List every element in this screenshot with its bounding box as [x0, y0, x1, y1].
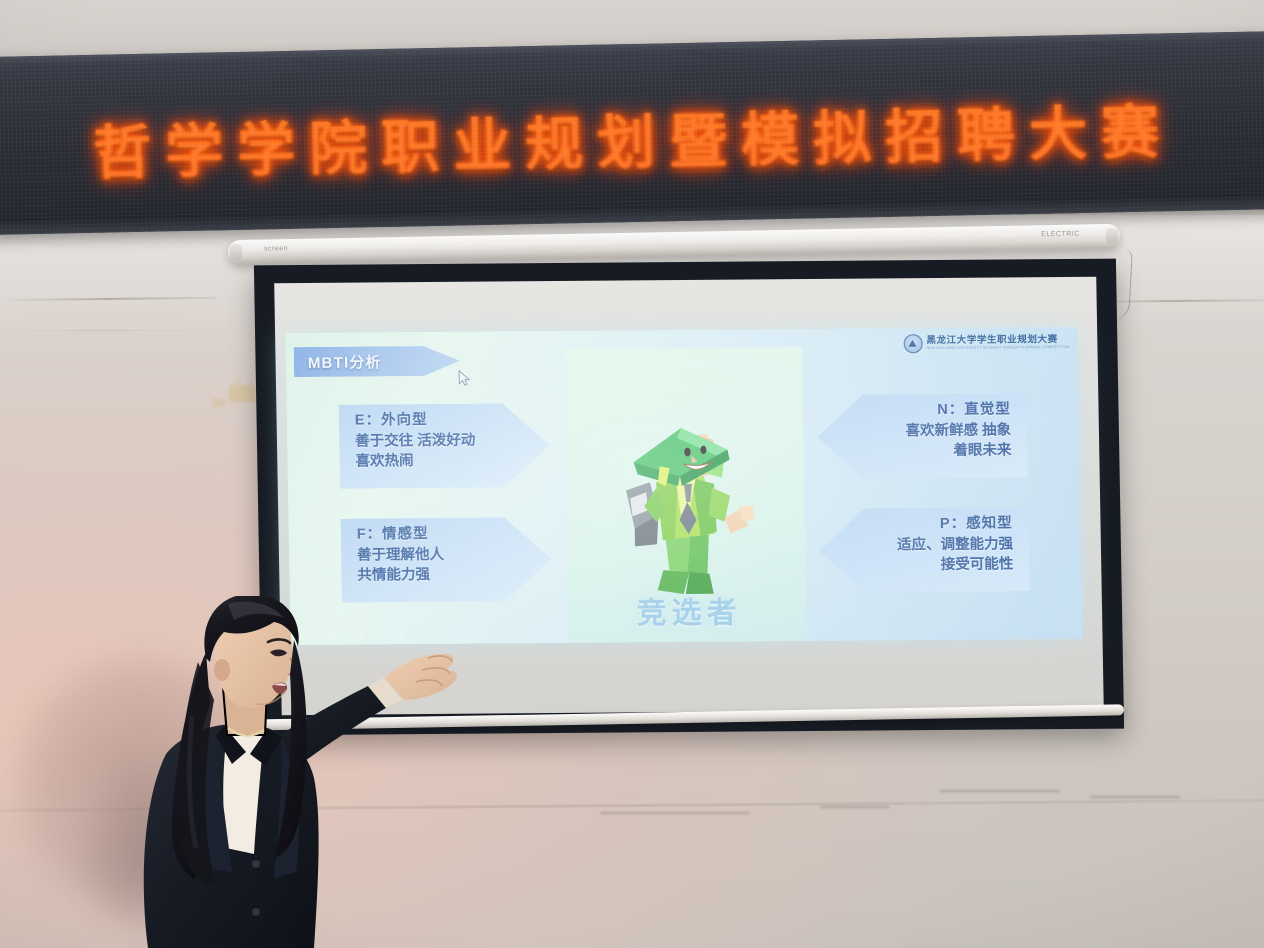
logo-chinese-text: 黑龙江大学学生职业规划大赛 — [926, 335, 1069, 346]
logo-text-block: 黑龙江大学学生职业规划大赛 HEILONGJIANG UNIVERSITY ST… — [926, 335, 1069, 351]
presenter-blazer-button — [252, 908, 260, 916]
mbti-box-f-line-2: 善于理解他人 — [357, 544, 541, 566]
mbti-box-p-line-3: 接受可能性 — [829, 555, 1013, 577]
mbti-box-e-line-2: 善于交往 活泼好动 — [355, 430, 539, 452]
mbti-box-p-line-2: 适应、调整能力强 — [829, 534, 1013, 556]
wall-scuff-mark — [1090, 796, 1180, 798]
led-banner-text: 哲学学院职业规划暨模拟招聘大赛 — [0, 83, 1264, 193]
mbti-box-p: P：感知型 适应、调整能力强 接受可能性 — [818, 507, 1029, 593]
mascot-label: 竞选者 — [580, 587, 799, 633]
competition-logo: 黑龙江大学学生职业规划大赛 HEILONGJIANG UNIVERSITY ST… — [903, 331, 1070, 354]
mouse-cursor-icon — [458, 370, 472, 388]
mbti-box-f-line-1: F：情感型 — [357, 523, 541, 545]
housing-end-cap-left — [230, 244, 242, 260]
slide-title-banner: MBTI分析 — [294, 346, 460, 377]
housing-brand-label-left: screen — [264, 245, 288, 252]
housing-brand-label-right: ELECTRIC — [1041, 231, 1080, 239]
wall-scuff-mark — [820, 806, 890, 808]
mbti-box-f: F：情感型 善于理解他人 共情能力强 — [340, 517, 551, 603]
mbti-box-p-line-1: P：感知型 — [828, 513, 1012, 535]
wall-tape-residue — [212, 398, 226, 407]
mbti-box-n: N：直觉型 喜欢新鲜感 抽象 着眼未来 — [817, 393, 1028, 479]
slide-title-text: MBTI分析 — [294, 351, 382, 373]
housing-end-cap-right — [1106, 228, 1118, 244]
wall-seam-left-lower — [0, 330, 196, 331]
wall-scuff-mark — [600, 812, 750, 814]
mbti-box-e-line-3: 喜欢热闹 — [355, 450, 539, 472]
mbti-box-n-line-1: N：直觉型 — [827, 399, 1011, 421]
mascot-graduate-icon — [603, 421, 772, 597]
mbti-box-n-line-3: 着眼未来 — [827, 441, 1011, 463]
led-banner: 哲学学院职业规划暨模拟招聘大赛 — [0, 31, 1264, 235]
mbti-box-f-line-3: 共情能力强 — [357, 564, 541, 586]
photo-scene: 哲学学院职业规划暨模拟招聘大赛 screen ELECTRIC 黑龙江大学学生职… — [0, 0, 1264, 948]
mbti-box-e: E：外向型 善于交往 活泼好动 喜欢热闹 — [339, 403, 550, 489]
wall-tape-residue — [229, 385, 255, 402]
wall-tape-residue — [236, 377, 241, 385]
mbti-box-n-line-2: 喜欢新鲜感 抽象 — [827, 420, 1011, 442]
wall-scuff-mark — [940, 790, 1060, 792]
logo-english-text: HEILONGJIANG UNIVERSITY STUDENT CAREER P… — [927, 346, 1070, 351]
presenter-blazer-button — [252, 860, 260, 868]
presenter-person — [110, 596, 540, 948]
mbti-box-e-line-1: E：外向型 — [355, 409, 539, 431]
logo-emblem-icon — [903, 334, 922, 353]
